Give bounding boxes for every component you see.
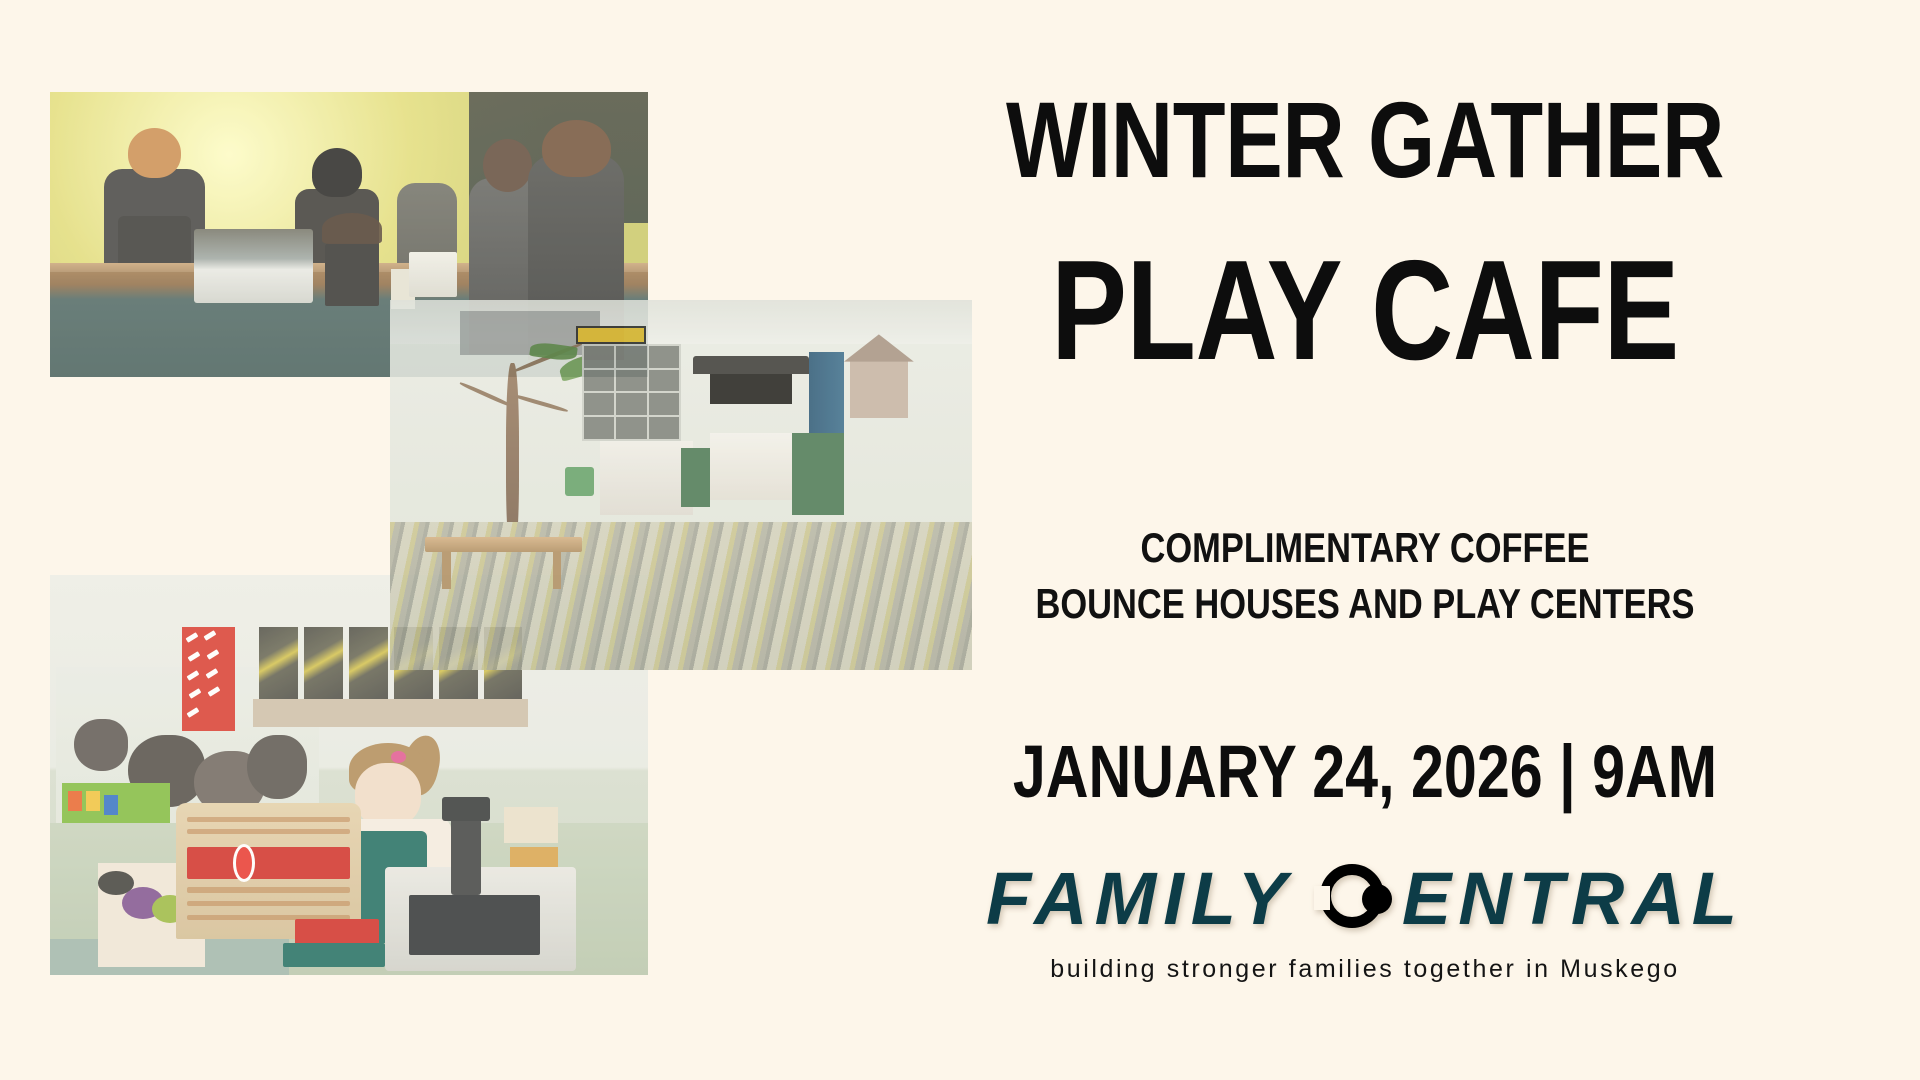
family-central-logo: FAMILY ENTRAL	[860, 860, 1870, 938]
poster-canvas: WINTER GATHER PLAY CAFE COMPLIMENTARY CO…	[0, 0, 1920, 1080]
central-c-ring-icon	[1316, 860, 1394, 938]
logo-word-family: FAMILY	[986, 862, 1294, 936]
logo-word-central: ENTRAL	[1402, 862, 1744, 936]
event-date-time: JANUARY 24, 2026 | 9AM	[961, 735, 1769, 809]
subheading-line-2: BOUNCE HOUSES AND PLAY CENTERS	[951, 578, 1779, 630]
headline-line-1: WINTER GATHER	[961, 86, 1769, 194]
logo-tagline: building stronger families together in M…	[860, 955, 1870, 984]
subheading-line-1: COMPLIMENTARY COFFEE	[951, 522, 1779, 574]
poster-text-column: WINTER GATHER PLAY CAFE COMPLIMENTARY CO…	[860, 0, 1870, 1080]
headline-line-2: PLAY CAFE	[961, 240, 1769, 382]
